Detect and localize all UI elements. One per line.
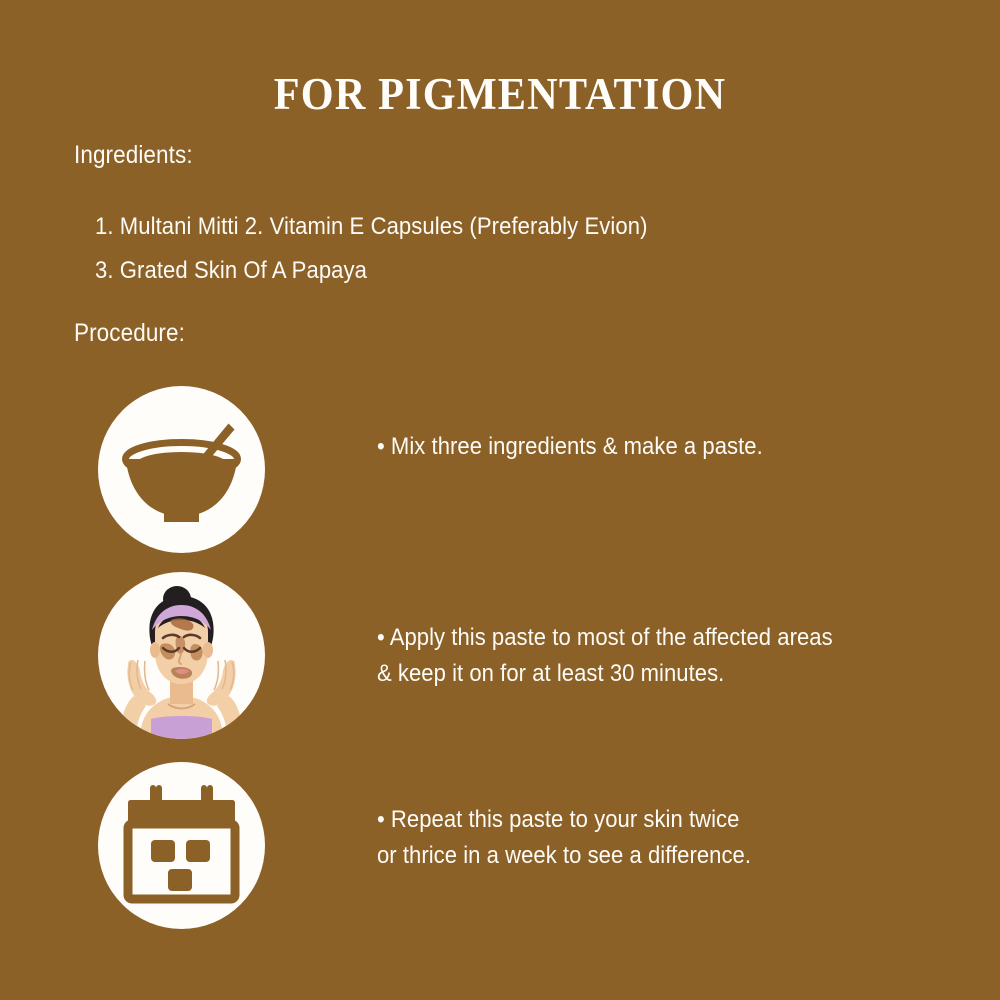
step-text: • Apply this paste to most of the affect… [377,620,957,692]
step-text-line: • Repeat this paste to your skin twice [377,802,899,838]
step-icon-wrapper [98,386,265,553]
step-text-line: & keep it on for at least 30 minutes. [377,656,899,692]
poster-canvas: FOR PIGMENTATION Ingredients: 1. Multani… [0,0,1000,1000]
step-text-line: • Mix three ingredients & make a paste. [377,429,899,465]
step-icon-wrapper [98,762,265,929]
step-text: • Repeat this paste to your skin twice o… [377,802,957,874]
calendar-icon [98,762,265,929]
procedure-steps: • Mix three ingredients & make a paste. [0,0,1000,1000]
icon-circle-background [98,386,265,553]
icon-circle-background [98,762,265,929]
step-text-line: or thrice in a week to see a difference. [377,838,899,874]
mixing-bowl-icon [98,386,265,553]
step-text: • Mix three ingredients & make a paste. [377,429,957,465]
face-pigmentation-icon [98,572,265,739]
step-text-line: • Apply this paste to most of the affect… [377,620,899,656]
step-icon-wrapper [98,572,265,739]
icon-circle-background [98,572,265,739]
